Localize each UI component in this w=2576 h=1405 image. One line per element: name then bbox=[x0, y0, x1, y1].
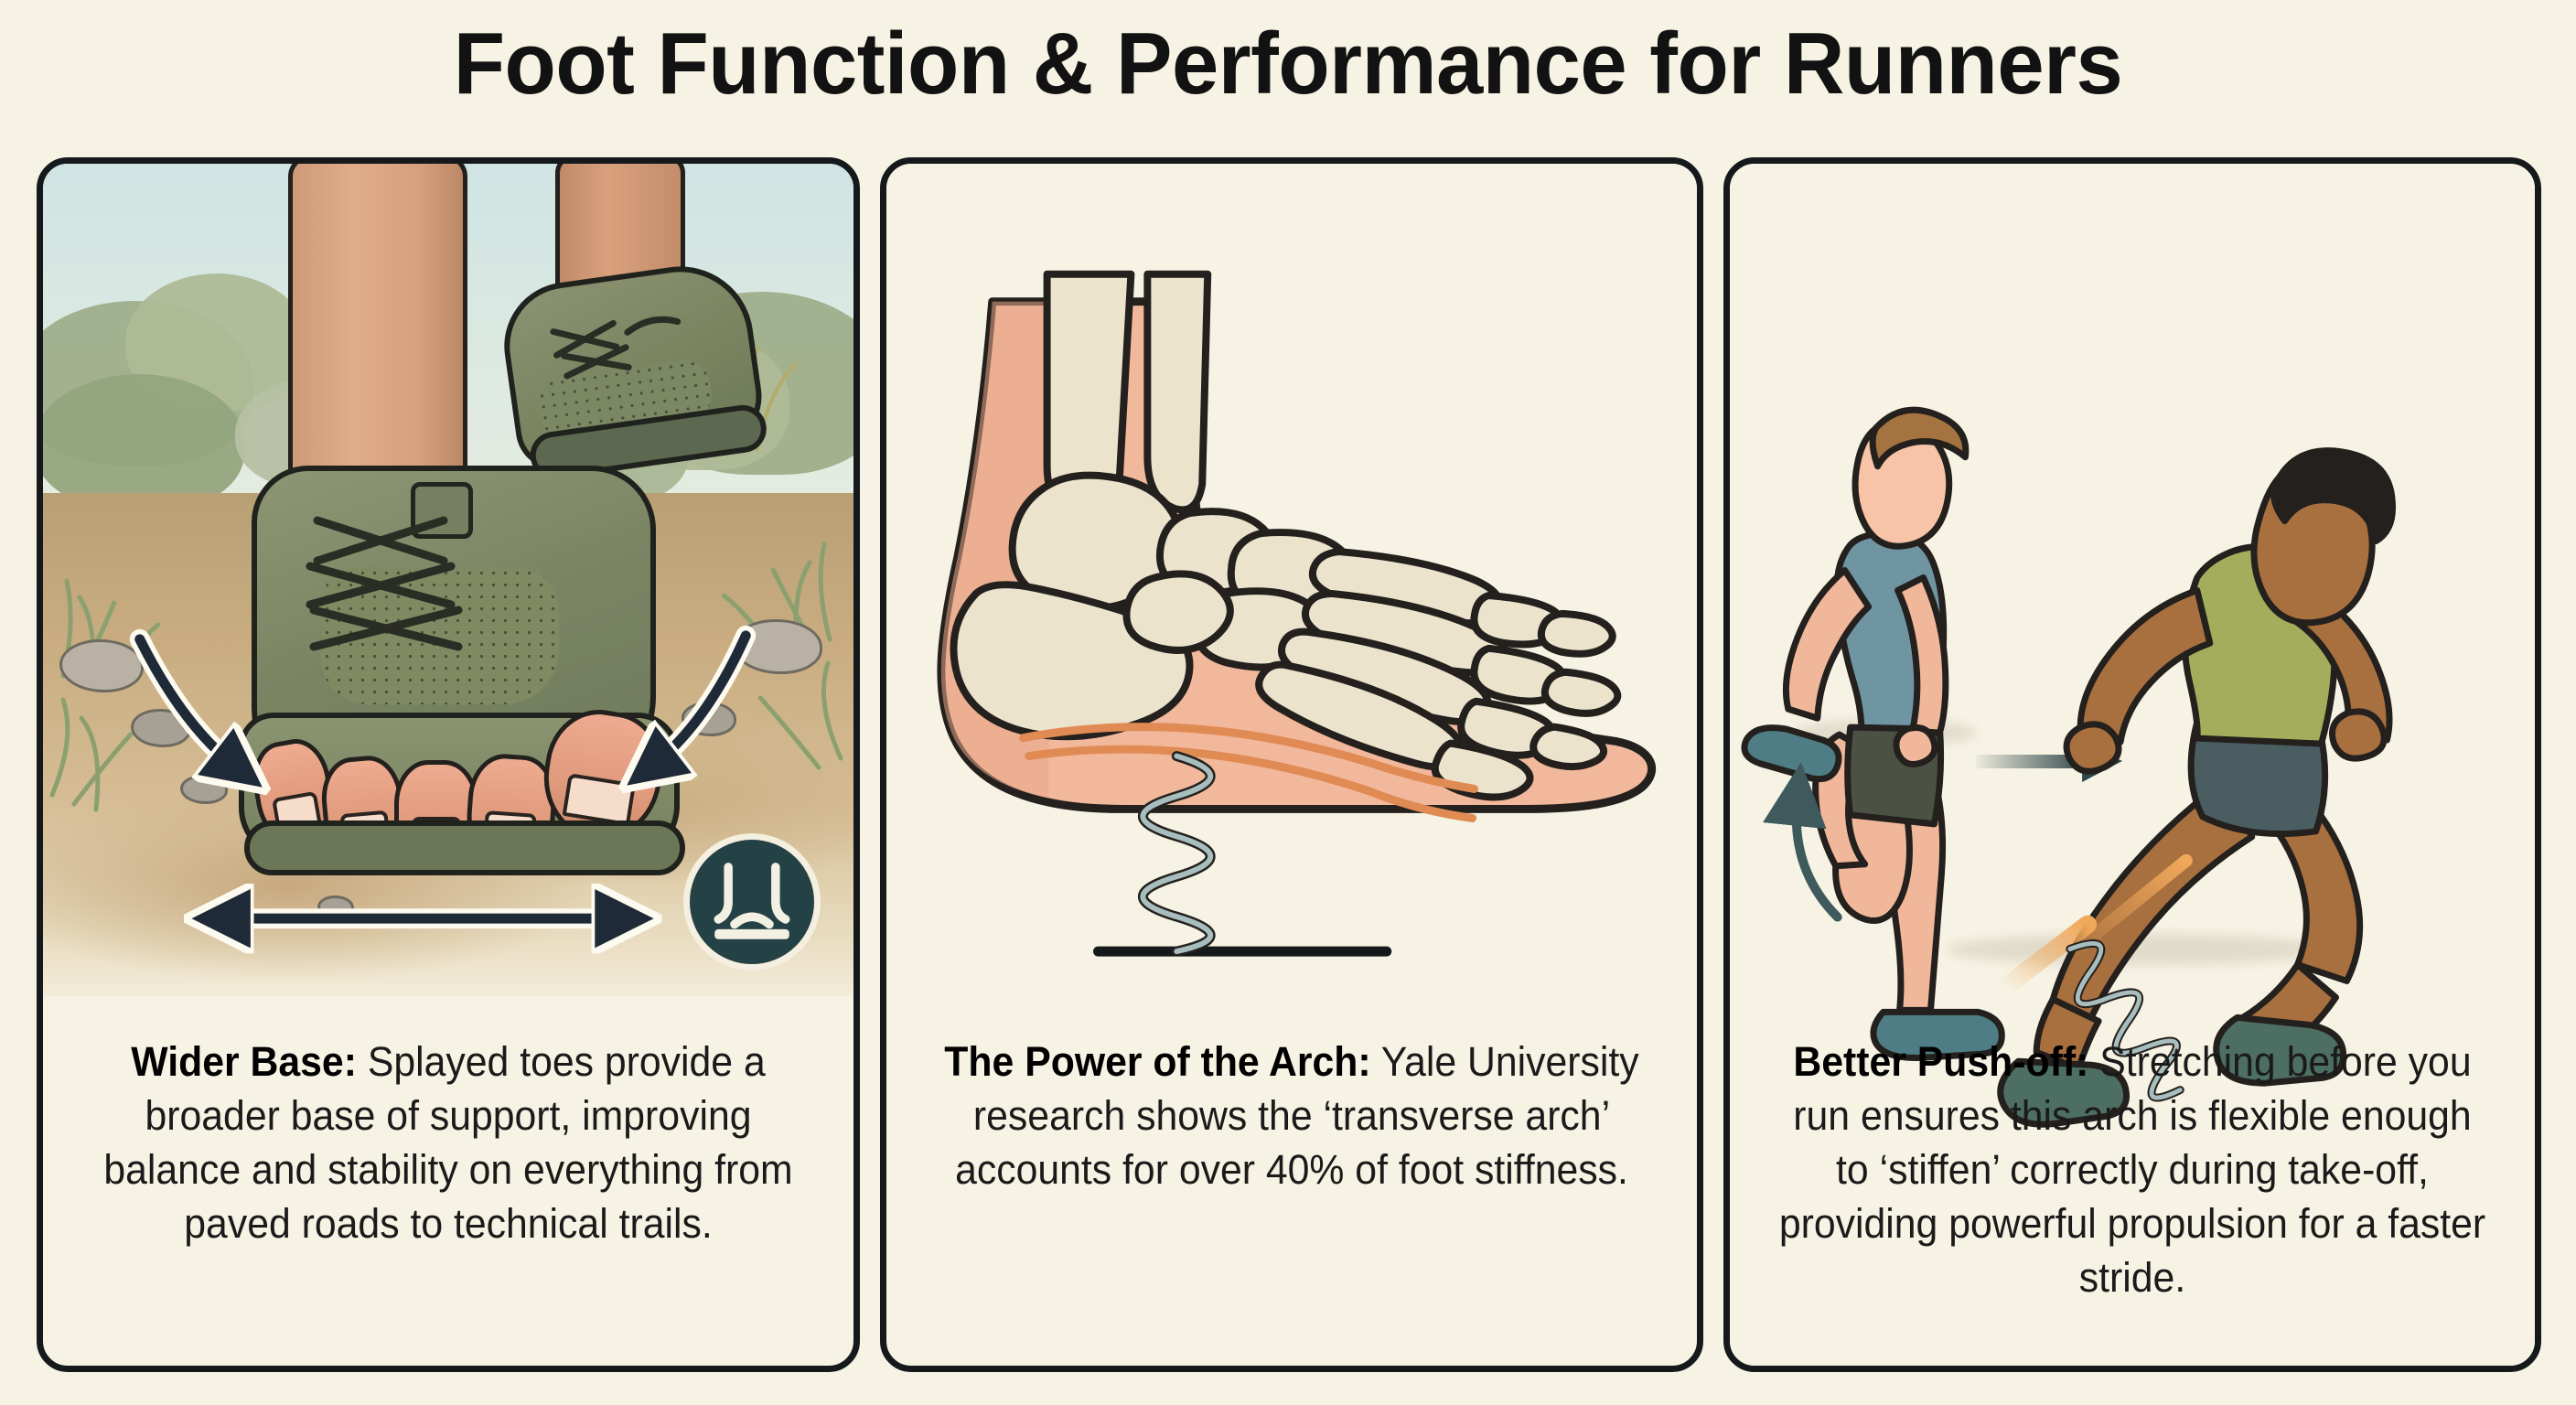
toenail bbox=[563, 773, 637, 827]
arch-stability-badge bbox=[683, 833, 821, 971]
phalanx-4b bbox=[1545, 672, 1617, 713]
caption-power-of-the-arch: The Power of the Arch: Yale University r… bbox=[929, 1035, 1654, 1196]
panel-power-of-the-arch: The Power of the Arch: Yale University r… bbox=[880, 157, 1703, 1372]
back-shoe bbox=[496, 257, 767, 475]
illustration-foot-arch bbox=[886, 164, 1697, 996]
phalanx-5b bbox=[1541, 614, 1613, 654]
illustration-wider-base bbox=[43, 164, 853, 996]
caption-lead: Better Push-off: bbox=[1793, 1038, 2088, 1085]
panel-wider-base: Wider Base: Splayed toes provide a broad… bbox=[37, 157, 860, 1372]
rock bbox=[131, 709, 191, 747]
foot-skeleton-diagram bbox=[886, 164, 1697, 996]
rock bbox=[59, 639, 144, 692]
runner-shadow bbox=[1946, 934, 2330, 965]
transition-arrow bbox=[1976, 742, 2122, 782]
rock bbox=[180, 775, 228, 804]
bush bbox=[43, 374, 244, 511]
running-figure bbox=[2001, 451, 2393, 1125]
arch-icon bbox=[690, 840, 814, 964]
shoe-sole bbox=[244, 820, 685, 875]
rock bbox=[682, 702, 736, 736]
caption-wider-base: Wider Base: Splayed toes provide a broad… bbox=[86, 1035, 810, 1250]
fibula bbox=[1147, 274, 1207, 510]
rock bbox=[317, 896, 354, 919]
phalanx-3b bbox=[1533, 727, 1604, 767]
caption-lead: The Power of the Arch: bbox=[944, 1038, 1370, 1085]
stretcher-shadow bbox=[1794, 720, 1977, 745]
cuboid bbox=[1126, 574, 1229, 650]
front-shoe-laces bbox=[290, 508, 583, 672]
infographic-root: Foot Function & Performance for Runners bbox=[0, 0, 2576, 1405]
caption-lead: Wider Base: bbox=[131, 1038, 357, 1085]
stretch-motion-arrow bbox=[1797, 799, 1838, 917]
page-title: Foot Function & Performance for Runners bbox=[51, 7, 2524, 121]
caption-better-push-off: Better Push-off: Stretching before you r… bbox=[1773, 1035, 2493, 1304]
panel-better-push-off: Better Push-off: Stretching before you r… bbox=[1723, 157, 2541, 1372]
